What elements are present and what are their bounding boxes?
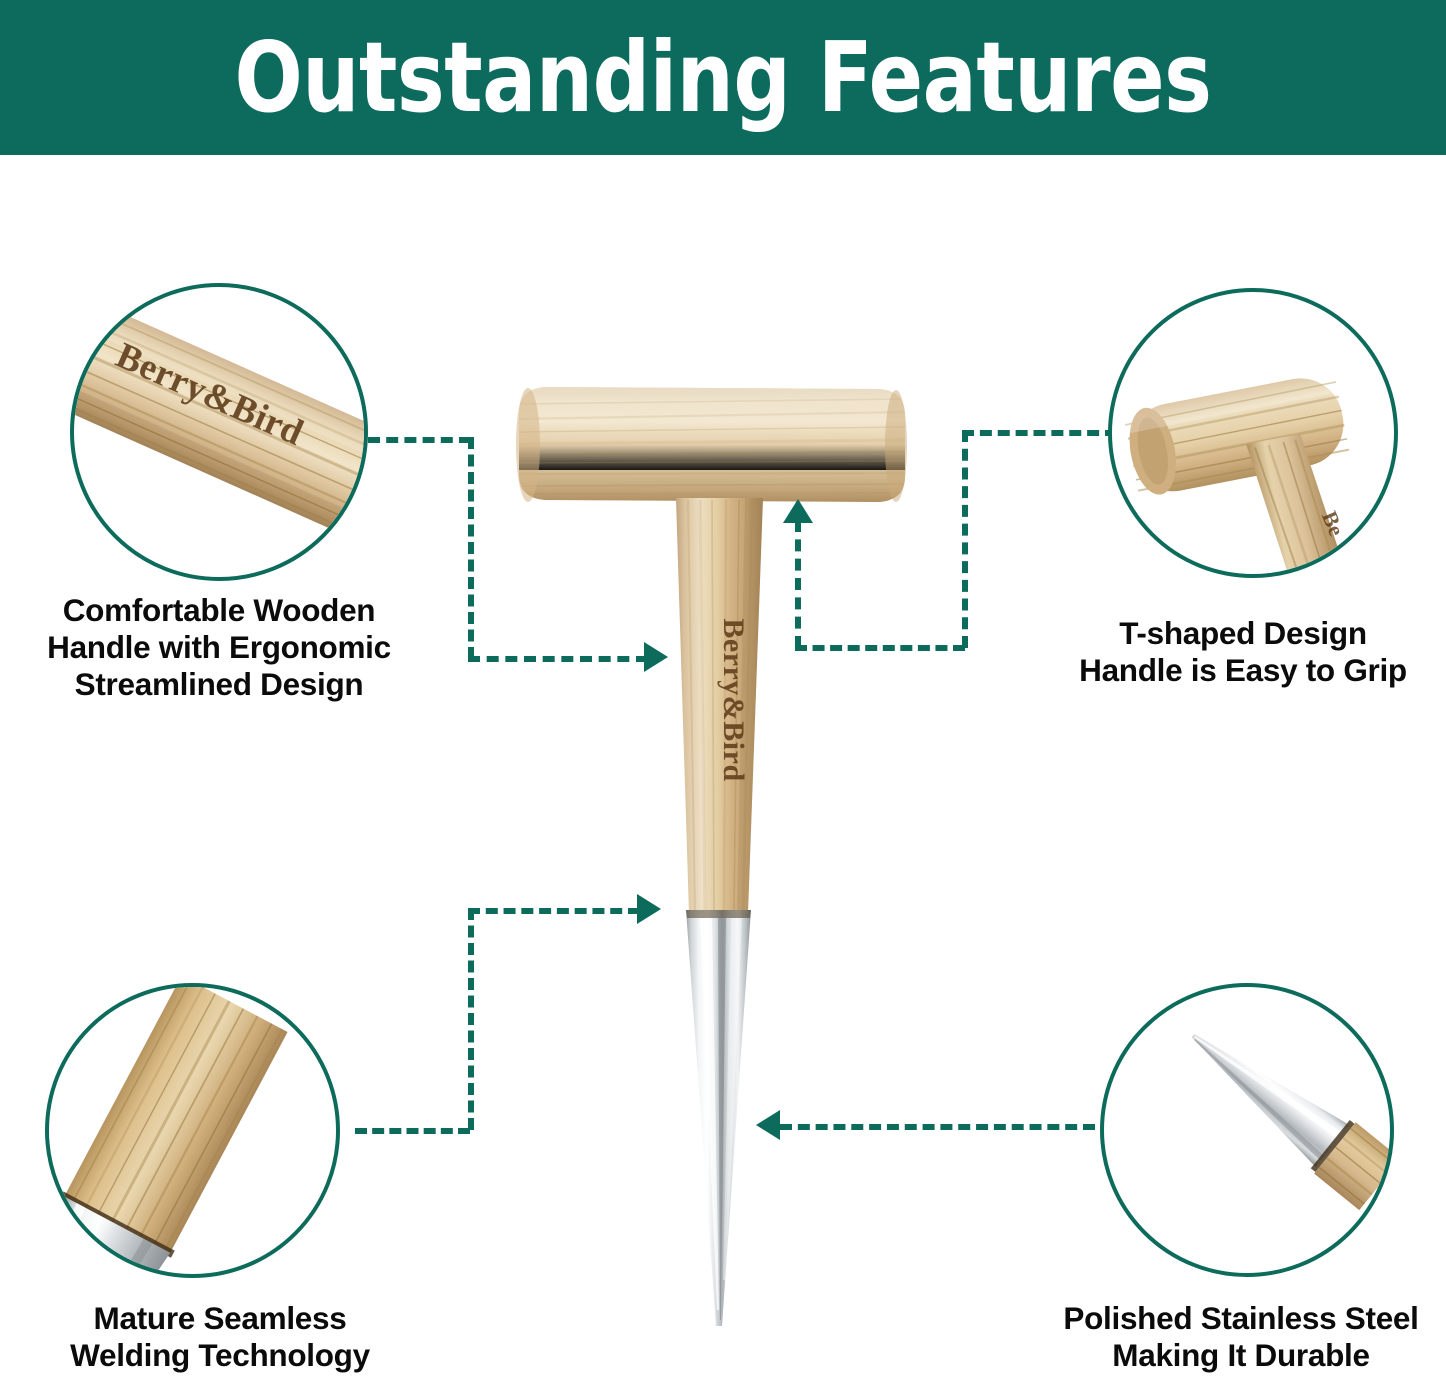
page-title: Outstanding Features bbox=[235, 29, 1212, 126]
caption-t-shaped-design: T-shaped Design Handle is Easy to Grip bbox=[1040, 615, 1446, 689]
feature-circle-stainless-steel bbox=[1100, 983, 1394, 1277]
caption-line: T-shaped Design bbox=[1040, 615, 1446, 652]
caption-line: Mature Seamless bbox=[10, 1300, 430, 1337]
caption-wooden-handle: Comfortable Wooden Handle with Ergonomic… bbox=[4, 592, 434, 703]
handle-shaft: Berry&Bird bbox=[676, 498, 763, 913]
caption-line: Handle with Ergonomic bbox=[4, 629, 434, 666]
feature-circle-seamless-welding bbox=[45, 983, 340, 1278]
circle-image-steel-tip bbox=[1104, 987, 1390, 1273]
caption-line: Handle is Easy to Grip bbox=[1040, 652, 1446, 689]
steel-cone-tip bbox=[686, 910, 751, 1326]
circle-image-t-junction: Be bbox=[1112, 292, 1394, 574]
circle-image-wooden-handle: Berry&Bird bbox=[74, 287, 364, 577]
caption-line: Comfortable Wooden bbox=[4, 592, 434, 629]
header-banner: Outstanding Features bbox=[0, 0, 1446, 155]
arrow-right-icon bbox=[637, 894, 661, 924]
caption-line: Making It Durable bbox=[1036, 1337, 1446, 1374]
handle-crossbar bbox=[516, 387, 907, 502]
shaft-brand-text: Berry&Bird bbox=[717, 618, 750, 781]
caption-stainless-steel: Polished Stainless Steel Making It Durab… bbox=[1036, 1300, 1446, 1374]
caption-seamless-welding: Mature Seamless Welding Technology bbox=[10, 1300, 430, 1374]
arrow-up-icon bbox=[783, 499, 813, 523]
feature-circle-wooden-handle: Berry&Bird bbox=[70, 283, 368, 581]
arrow-right-icon bbox=[644, 642, 668, 672]
caption-line: Polished Stainless Steel bbox=[1036, 1300, 1446, 1337]
arrow-left-icon bbox=[756, 1110, 780, 1140]
circle-image-weld-joint bbox=[49, 987, 336, 1274]
feature-circle-t-shaped-design: Be bbox=[1108, 288, 1398, 578]
caption-line: Welding Technology bbox=[10, 1337, 430, 1374]
caption-line: Streamlined Design bbox=[4, 666, 434, 703]
